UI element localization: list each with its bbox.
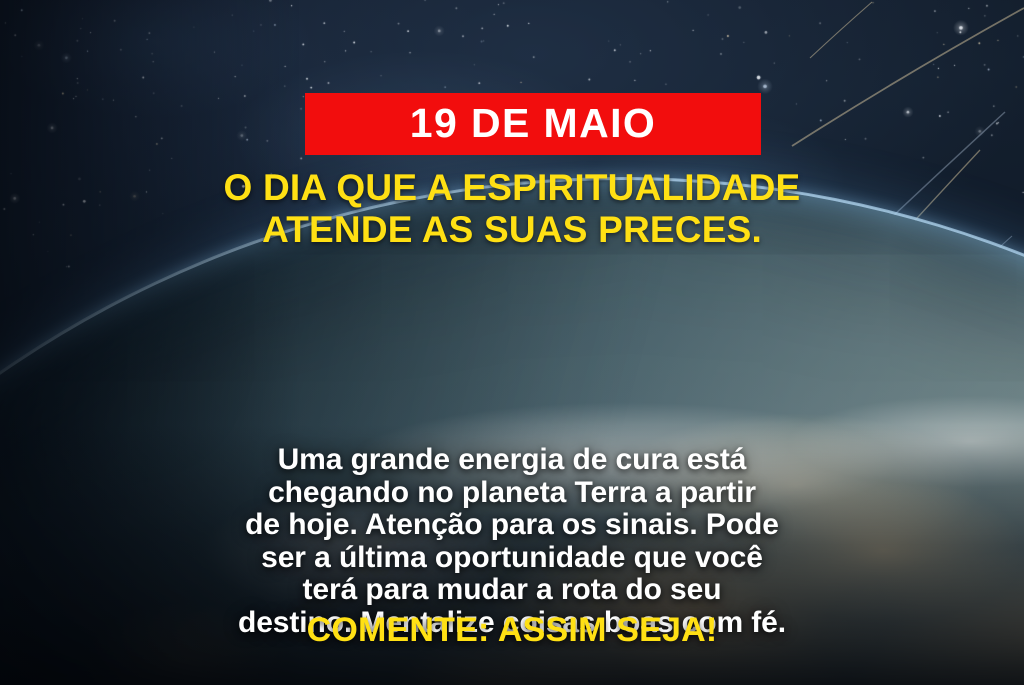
body-line-4: ser a última oportunidade que você (36, 542, 988, 575)
body-line-5: terá para mudar a rota do seu (36, 574, 988, 607)
date-banner-label: 19 DE MAIO (410, 103, 656, 144)
body-copy: Uma grande energia de cura está chegando… (0, 444, 1024, 639)
body-line-3: de hoje. Atenção para os sinais. Pode (36, 509, 988, 542)
poster-canvas: 19 DE MAIO O DIA QUE A ESPIRITUALIDADE A… (0, 0, 1024, 685)
body-line-1: Uma grande energia de cura está (36, 444, 988, 477)
poster-content: 19 DE MAIO O DIA QUE A ESPIRITUALIDADE A… (0, 0, 1024, 685)
cta-label: COMENTE: ASSIM SEJA! (307, 611, 718, 649)
body-line-2: chegando no planeta Terra a partir (36, 477, 988, 510)
headline-line-1: O DIA QUE A ESPIRITUALIDADE (40, 167, 984, 209)
headline-line-2: ATENDE AS SUAS PRECES. (40, 209, 984, 251)
date-banner: 19 DE MAIO (305, 93, 761, 155)
headline: O DIA QUE A ESPIRITUALIDADE ATENDE AS SU… (0, 167, 1024, 251)
call-to-action: COMENTE: ASSIM SEJA! (0, 613, 1024, 647)
